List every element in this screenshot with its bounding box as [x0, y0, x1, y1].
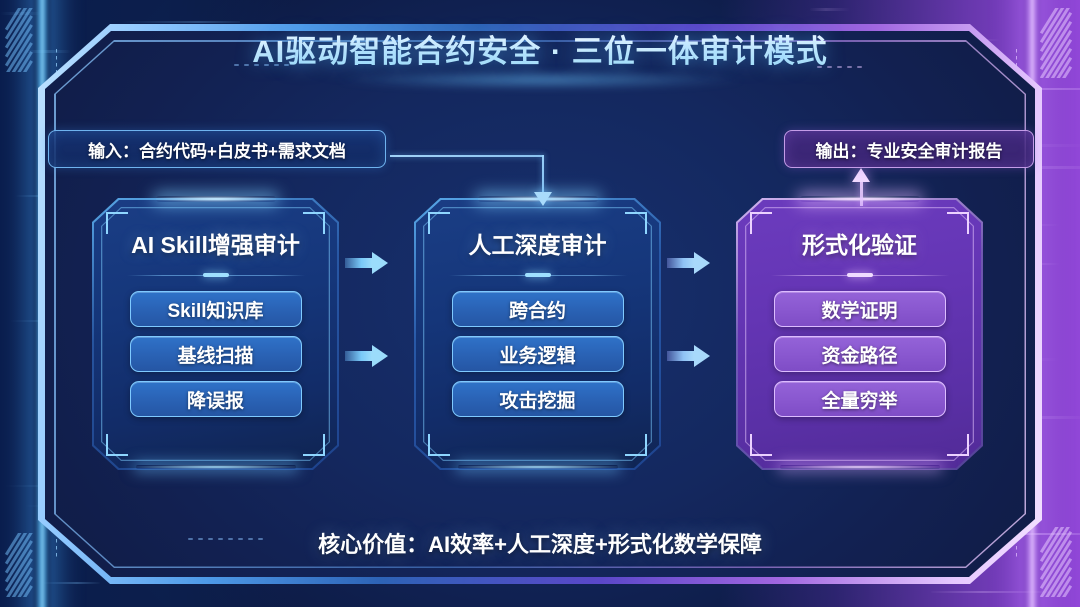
card-pill-list: Skill知识库 基线扫描 降误报: [114, 291, 317, 417]
card-title: 人工深度审计: [469, 226, 607, 260]
card-title: AI Skill增强审计: [131, 226, 300, 260]
card-pill[interactable]: 全量穷举: [774, 381, 946, 417]
card-pill[interactable]: 降误报: [130, 381, 302, 417]
card-divider: [771, 273, 949, 277]
output-box-label: 输出：专业安全审计报告: [816, 137, 1003, 162]
card-divider: [449, 273, 627, 277]
slide-canvas: AI驱动智能合约安全 · 三位一体审计模式 输入：合约代码+白皮书+需求文档 输…: [0, 0, 1080, 607]
card-pill-list: 跨合约 业务逻辑 攻击挖掘: [436, 291, 639, 417]
output-box: 输出：专业安全审计报告: [784, 130, 1034, 168]
flow-arrow-icon: [667, 345, 710, 367]
input-box-label: 输入：合约代码+白皮书+需求文档: [88, 137, 346, 162]
card-pill[interactable]: Skill知识库: [130, 291, 302, 327]
flow-arrow-icon: [345, 252, 388, 274]
card-pill[interactable]: 攻击挖掘: [452, 381, 624, 417]
card-pill[interactable]: 数学证明: [774, 291, 946, 327]
card-body: 人工深度审计 跨合约 业务逻辑 攻击挖掘: [414, 198, 661, 470]
card-title: 形式化验证: [802, 226, 917, 260]
card-divider: [127, 273, 305, 277]
flow-arrow-icon: [667, 252, 710, 274]
card-pill[interactable]: 资金路径: [774, 336, 946, 372]
card-ai-skill-audit[interactable]: AI Skill增强审计 Skill知识库 基线扫描 降误报: [92, 198, 339, 470]
page-title: AI驱动智能合约安全 · 三位一体审计模式: [0, 26, 1080, 71]
footer-core-value: 核心价值：AI效率+人工深度+形式化数学保障: [0, 527, 1080, 559]
card-formal-verification[interactable]: 形式化验证 数学证明 资金路径 全量穷举: [736, 198, 983, 470]
card-pill[interactable]: 业务逻辑: [452, 336, 624, 372]
card-body: 形式化验证 数学证明 资金路径 全量穷举: [736, 198, 983, 470]
card-manual-deep-audit[interactable]: 人工深度审计 跨合约 业务逻辑 攻击挖掘: [414, 198, 661, 470]
input-box: 输入：合约代码+白皮书+需求文档: [48, 130, 386, 168]
flow-arrow-icon: [345, 345, 388, 367]
card-pill[interactable]: 基线扫描: [130, 336, 302, 372]
card-pill-list: 数学证明 资金路径 全量穷举: [758, 291, 961, 417]
card-pill[interactable]: 跨合约: [452, 291, 624, 327]
card-body: AI Skill增强审计 Skill知识库 基线扫描 降误报: [92, 198, 339, 470]
cards-row: AI Skill增强审计 Skill知识库 基线扫描 降误报: [52, 198, 1028, 470]
